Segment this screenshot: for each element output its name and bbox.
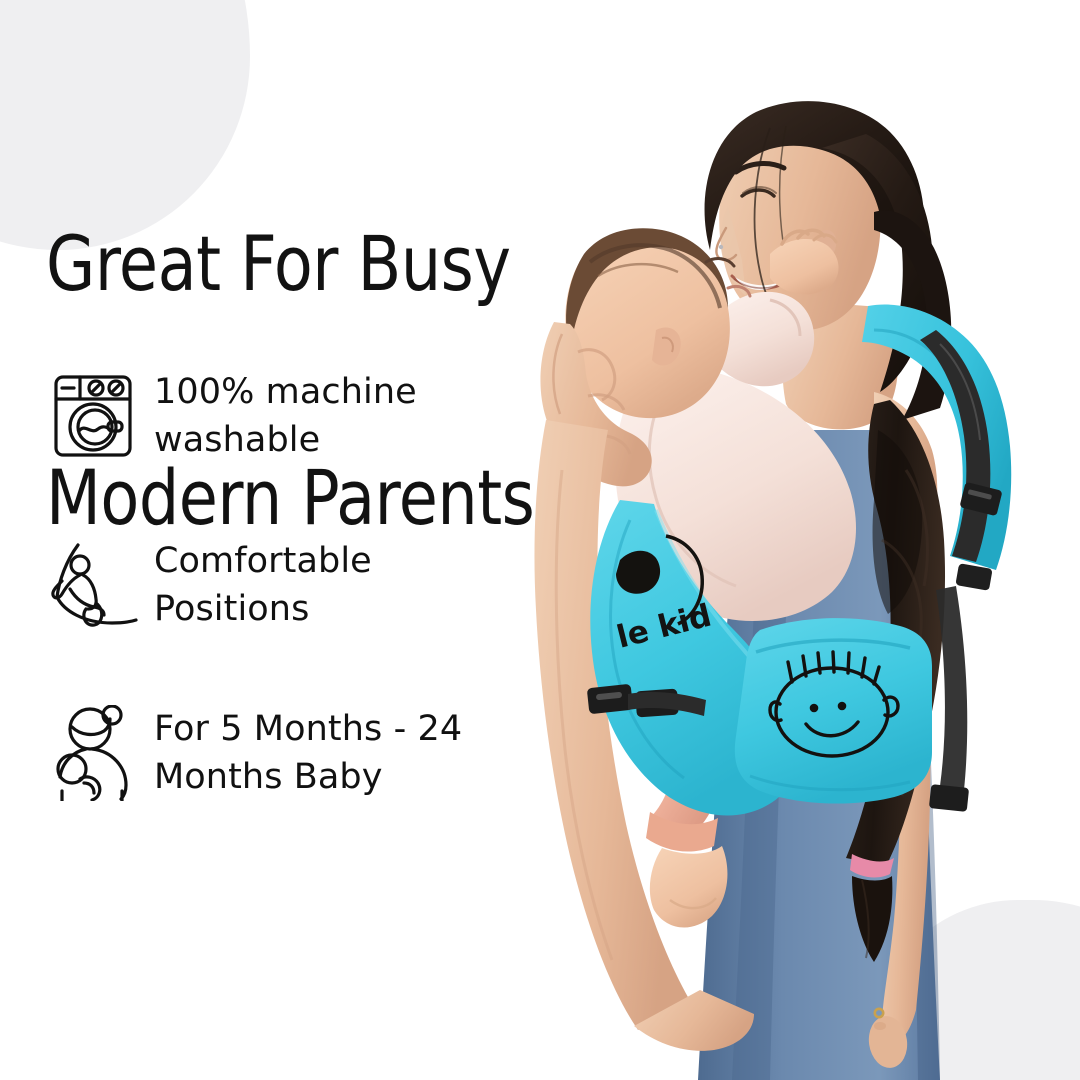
product-photo: le kid (470, 0, 1080, 1080)
baby-hand (770, 239, 839, 294)
feature-label-line-1: 100% machine (154, 372, 417, 412)
poster-canvas: le kid (0, 0, 1080, 1080)
strap-buckle-lower (929, 784, 969, 812)
feature-label: For 5 Months - 24 Months Baby (154, 705, 462, 802)
feature-item-machine-washable: 100% machine washable (50, 368, 550, 465)
feature-label: Comfortable Positions (154, 537, 372, 634)
feature-item-comfortable-positions: Comfortable Positions (50, 537, 550, 634)
carrier-buckle-left (587, 684, 633, 714)
feature-label-line-2: Months Baby (154, 757, 383, 797)
feature-list: 100% machine washable Comfortable Pos (50, 368, 550, 874)
feature-label-line-2: Positions (154, 589, 309, 629)
carrier-hip-seat (735, 618, 932, 803)
feature-item-age-range: For 5 Months - 24 Months Baby (50, 705, 550, 802)
washing-machine-icon (50, 371, 154, 461)
mother-holding-baby-icon (50, 705, 154, 801)
feature-label: 100% machine washable (154, 368, 417, 465)
feature-label-line-2: washable (154, 420, 320, 460)
headline-line-1: Great For Busy (46, 225, 534, 303)
reclining-person-icon (50, 537, 154, 633)
feature-label-line-1: For 5 Months - 24 (154, 709, 462, 749)
feature-label-line-1: Comfortable (154, 541, 372, 581)
